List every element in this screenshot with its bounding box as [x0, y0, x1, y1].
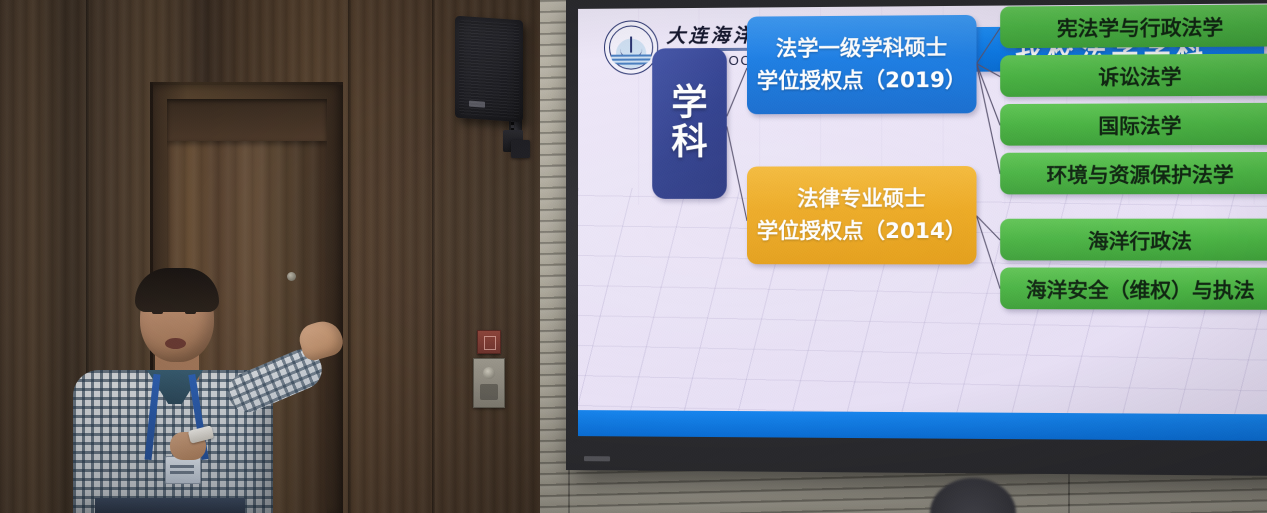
display-brand-logo [584, 456, 610, 461]
diagram-leaf-node[interactable]: 海洋行政法 [1000, 219, 1267, 261]
leaf-label: 海洋行政法 [1088, 225, 1192, 255]
presenter-mouth [165, 338, 186, 349]
slide-footer-bar [578, 410, 1267, 441]
connector-blue-to-leaf-2 [977, 63, 1001, 125]
fire-alarm-plate[interactable] [477, 330, 501, 354]
branch-blue-line-2: 学位授权点（2019） [757, 64, 967, 97]
leaf-label: 宪法学与行政法学 [1057, 11, 1223, 42]
av-plate-knob-icon[interactable] [483, 367, 495, 379]
connector-orange-to-leaf-5 [977, 216, 1001, 289]
connector-blue-to-leaf-1 [977, 63, 1001, 76]
lecture-hall-photo: 大连海洋大学 DALIAN OCEAN UNIVERSITY 我校法学学科 [0, 0, 1267, 513]
presentation-display[interactable]: 大连海洋大学 DALIAN OCEAN UNIVERSITY 我校法学学科 [566, 0, 1267, 476]
diagram-leaf-node[interactable]: 诉讼法学 [1000, 54, 1267, 97]
presenter-hair [135, 268, 219, 312]
branch-blue-line-1: 法学一级学科硕士 [776, 32, 947, 65]
diagram-leaf-node[interactable]: 环境与资源保护法学 [1000, 152, 1267, 194]
presenter-eye-right [185, 310, 196, 314]
root-char-1: 学 [671, 86, 707, 123]
speaker-badge-icon [469, 101, 485, 108]
diagram-branch-professional-master[interactable]: 法律专业硕士 学位授权点（2014） [747, 166, 976, 264]
diagram-branch-first-level-master[interactable]: 法学一级学科硕士 学位授权点（2019） [747, 15, 976, 114]
av-wall-plate[interactable] [473, 358, 505, 408]
door-transom [167, 99, 327, 141]
connector-blue-to-leaf-3 [977, 63, 1001, 174]
presenter-id-badge [165, 456, 201, 484]
presenter-belt [95, 498, 245, 513]
presenter-eye-left [152, 310, 163, 314]
wall-loudspeaker [455, 16, 523, 123]
connector-root-to-orange [727, 126, 747, 221]
branch-orange-line-1: 法律专业硕士 [797, 183, 926, 215]
leaf-label: 环境与资源保护法学 [1047, 158, 1234, 188]
connector-blue-to-leaf-0 [977, 28, 1001, 64]
presentation-slide: 大连海洋大学 DALIAN OCEAN UNIVERSITY 我校法学学科 [578, 3, 1267, 441]
connector-orange-to-leaf-4 [977, 216, 1001, 240]
branch-orange-line-2: 学位授权点（2014） [757, 215, 967, 247]
connector-root-to-blue [727, 68, 747, 116]
leaf-label: 海洋安全（维权）与执法 [1026, 274, 1255, 304]
diagram-leaf-node[interactable]: 海洋安全（维权）与执法 [1000, 267, 1267, 309]
diagram-leaf-node[interactable]: 宪法学与行政法学 [1000, 4, 1267, 48]
diagram-leaf-node[interactable]: 国际法学 [1000, 103, 1267, 146]
leaf-label: 国际法学 [1098, 109, 1181, 139]
diagram-root-node[interactable]: 学 科 [652, 48, 727, 199]
speaker-mount-plate [511, 140, 530, 158]
wall-panel-seam [432, 0, 435, 513]
root-char-2: 科 [671, 124, 707, 161]
discipline-diagram: 学 科 法学一级学科硕士 学位授权点（2019） 法律专业硕士 学位授权点（20… [578, 3, 1267, 441]
av-plate-socket-icon [480, 384, 498, 400]
presenter [55, 270, 355, 513]
leaf-label: 诉讼法学 [1098, 60, 1181, 90]
